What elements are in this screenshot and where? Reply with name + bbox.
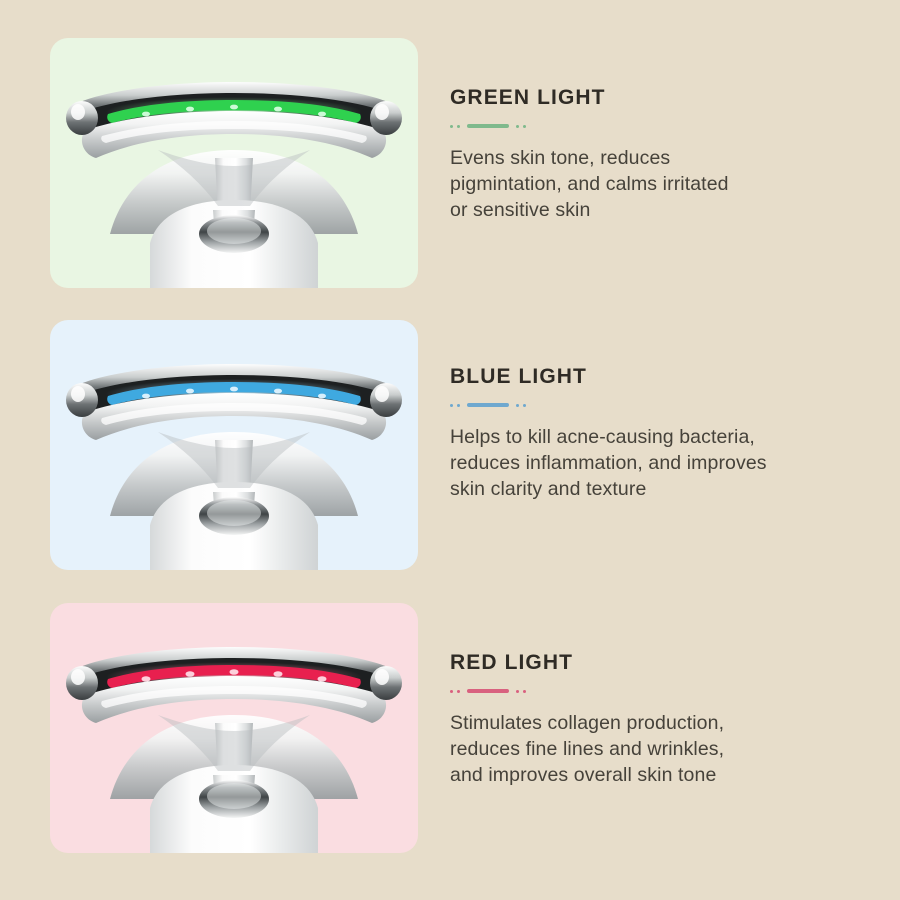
divider-dot	[457, 125, 460, 128]
body-line: skin clarity and texture	[450, 477, 870, 503]
text-column-blue: BLUE LIGHT Helps to kill acne-causing ba…	[450, 365, 880, 502]
divider-blue	[450, 401, 880, 409]
divider-dot	[516, 690, 519, 693]
body-line: Stimulates collagen production,	[450, 711, 870, 737]
divider-dot	[457, 404, 460, 407]
divider-dash	[467, 689, 509, 693]
product-image-card-blue	[50, 320, 418, 570]
body-line: Evens skin tone, reduces	[450, 146, 870, 172]
product-image-card-red	[50, 603, 418, 853]
led-neck-beauty-device-blue	[50, 320, 418, 570]
divider-dot	[523, 125, 526, 128]
section-body-blue: Helps to kill acne-causing bacteria, red…	[450, 425, 870, 502]
divider-dot	[457, 690, 460, 693]
body-line: or sensitive skin	[450, 198, 870, 224]
section-green-light: GREEN LIGHT Evens skin tone, reduces pig…	[0, 38, 900, 288]
section-blue-light: BLUE LIGHT Helps to kill acne-causing ba…	[0, 320, 900, 570]
section-red-light: RED LIGHT Stimulates collagen production…	[0, 603, 900, 853]
body-line: reduces inflammation, and improves	[450, 451, 870, 477]
infographic-page: GREEN LIGHT Evens skin tone, reduces pig…	[0, 0, 900, 900]
body-line: Helps to kill acne-causing bacteria,	[450, 425, 870, 451]
divider-green	[450, 122, 880, 130]
product-image-card-green	[50, 38, 418, 288]
section-heading-green: GREEN LIGHT	[450, 86, 880, 109]
led-neck-beauty-device-red	[50, 603, 418, 853]
led-neck-beauty-device-green	[50, 38, 418, 288]
divider-dash	[467, 124, 509, 128]
section-body-green: Evens skin tone, reduces pigmintation, a…	[450, 146, 870, 223]
body-line: and improves overall skin tone	[450, 763, 870, 789]
section-body-red: Stimulates collagen production, reduces …	[450, 711, 870, 788]
divider-red	[450, 687, 880, 695]
section-heading-blue: BLUE LIGHT	[450, 365, 880, 388]
text-column-red: RED LIGHT Stimulates collagen production…	[450, 651, 880, 788]
body-line: pigmintation, and calms irritated	[450, 172, 870, 198]
divider-dot	[523, 690, 526, 693]
divider-dash	[467, 403, 509, 407]
text-column-green: GREEN LIGHT Evens skin tone, reduces pig…	[450, 86, 880, 223]
divider-dot	[516, 404, 519, 407]
body-line: reduces fine lines and wrinkles,	[450, 737, 870, 763]
section-heading-red: RED LIGHT	[450, 651, 880, 674]
divider-dot	[523, 404, 526, 407]
divider-dot	[450, 125, 453, 128]
divider-dot	[450, 404, 453, 407]
divider-dot	[516, 125, 519, 128]
divider-dot	[450, 690, 453, 693]
